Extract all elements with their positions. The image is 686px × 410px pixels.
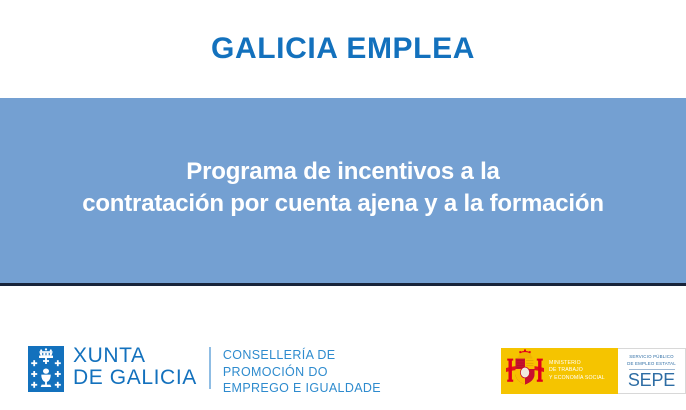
spain-coat-of-arms-icon [504,348,546,395]
ministerio-de-trabajo-logo: MINISTERIO DE TRABAJO Y ECONOMÍA SOCIAL [501,348,618,394]
xunta-de-galicia-logo: XUNTA DE GALICIA CONSELLERÍA DE PROMOCIÓ… [28,344,381,397]
program-title-line-1: Programa de incentivos a la [0,156,686,188]
sepe-logo: SERVICIO PÚBLICO DE EMPLEO ESTATAL SEPE [618,348,686,394]
ministerio-line-1: MINISTERIO [549,360,605,368]
sepe-wordmark: SEPE [628,371,675,389]
conselleria-line-1: CONSELLERÍA DE [223,347,381,364]
ministerio-text: MINISTERIO DE TRABAJO Y ECONOMÍA SOCIAL [549,360,605,383]
xunta-wordmark: XUNTA DE GALICIA [73,344,197,390]
program-title-band: Programa de incentivos a la contratación… [0,98,686,283]
conselleria-wordmark: CONSELLERÍA DE PROMOCIÓN DO EMPREGO E IG… [223,344,381,397]
xunta-wordmark-line-2: DE GALICIA [73,367,197,389]
header-banner: GALICIA EMPLEA [0,0,686,98]
ministry-sepe-logos: MINISTERIO DE TRABAJO Y ECONOMÍA SOCIAL … [501,348,686,394]
xunta-wordmark-line-1: XUNTA [73,345,197,367]
logo-divider [209,347,211,389]
ministerio-line-3: Y ECONOMÍA SOCIAL [549,375,605,383]
conselleria-line-2: PROMOCIÓN DO [223,364,381,381]
sepe-subtitle: SERVICIO PÚBLICO DE EMPLEO ESTATAL [627,354,676,366]
program-title-line-2: contratación por cuenta ajena y a la for… [0,188,686,220]
ministerio-line-2: DE TRABAJO [549,367,605,375]
program-title-text: Programa de incentivos a la contratación… [0,156,686,225]
sepe-subtitle-line-2: DE EMPLEO ESTATAL [627,361,676,367]
conselleria-line-3: EMPREGO E IGUALDADE [223,380,381,397]
page-title: GALICIA EMPLEA [211,34,475,64]
galicia-coat-of-arms-icon [28,346,64,392]
